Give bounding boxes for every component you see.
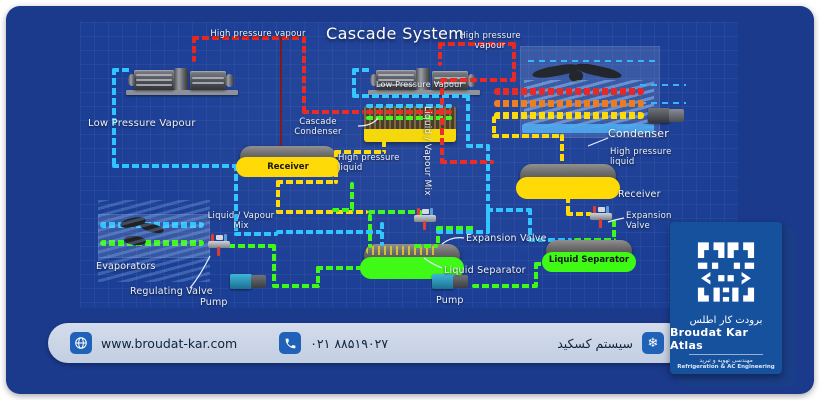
website-text: www.broudat-kar.com	[101, 336, 237, 351]
pump-left	[230, 274, 268, 291]
compressor-cylinder-left	[174, 68, 188, 90]
condenser-coil-mid	[494, 100, 644, 107]
logo-divider	[689, 354, 763, 355]
snowflake-logo-icon	[687, 233, 765, 311]
receiver-left-label: Receiver	[240, 158, 336, 176]
condenser-water-pump	[648, 108, 682, 124]
snowflake-icon: ❄	[642, 332, 664, 354]
condenser-airflow-2	[640, 84, 686, 86]
expansion-valve-middle	[414, 208, 438, 228]
compressor-body-left	[134, 70, 174, 90]
phone-text: ۰۲۱ ۸۸۵۱۹۰۲۷	[310, 336, 388, 351]
condenser-airflow-1	[528, 60, 656, 62]
globe-icon	[70, 332, 92, 354]
expansion-valve-right	[590, 206, 614, 226]
logo-name-en: Broudat Kar Atlas	[670, 326, 782, 352]
footer-phone[interactable]: ۰۲۱ ۸۸۵۱۹۰۲۷	[279, 332, 388, 354]
liquid-separator-right-label: Liquid Separator	[546, 251, 632, 269]
label-cascade-condenser: Cascade Condenser	[278, 118, 358, 138]
motor-left	[190, 71, 226, 90]
poster-card: Receiver	[6, 6, 814, 394]
footer-contact-bar: www.broudat-kar.com ۰۲۱ ۸۸۵۱۹۰۲۷ سیستم ک…	[48, 323, 688, 363]
logo-tagline-fa: مهندسی تهویه و تبرید	[699, 357, 753, 364]
condenser-coil-cool	[494, 112, 644, 119]
footer-website[interactable]: www.broudat-kar.com	[70, 332, 237, 354]
label-high-pressure-liquid-left: High pressure liquid	[338, 154, 400, 174]
label-condenser-right: Condenser	[608, 128, 669, 141]
label-expansion-valve-right: Expansion Valve	[626, 212, 672, 232]
logo-name-fa: برودت کار اطلس	[690, 315, 763, 326]
logo-tagline-en: Refrigeration & AC Engineering	[677, 364, 774, 370]
label-high-pressure-liquid-right: High pressure liquid	[610, 148, 672, 168]
receiver-right	[520, 164, 616, 188]
label-liquid-vapour-mix-vertical: Liquid / Vapour Mix	[422, 106, 432, 196]
footer-subject: سیستم کسکید ❄	[557, 332, 664, 354]
phone-icon	[279, 332, 301, 354]
screenshot-root: Receiver	[0, 0, 820, 400]
label-expansion-valve-middle: Expansion Valve	[466, 234, 547, 245]
liquid-separator-right: Liquid Separator	[546, 240, 632, 262]
company-logo-panel[interactable]: برودت کار اطلس Broudat Kar Atlas مهندسی …	[670, 222, 782, 374]
label-high-pressure-vapour-right: High pressure vapour	[448, 32, 532, 52]
label-evaporators: Evaporators	[96, 262, 156, 273]
subject-text: سیستم کسکید	[557, 336, 633, 351]
condenser-coil-hot	[494, 88, 644, 95]
regulating-valve	[208, 234, 232, 254]
condenser-airflow-3	[640, 102, 686, 104]
label-low-pressure-vapour-left: Low Pressure Vapour	[88, 118, 196, 130]
label-low-pressure-vapour-right: Low Pressure Vapour	[376, 80, 463, 89]
label-pump-right: Pump	[436, 296, 464, 307]
receiver-left: Receiver	[240, 146, 336, 168]
label-liquid-separator-middle: Liquid Separator	[444, 266, 526, 277]
label-liquid-vapour-mix-left: Liquid / Vapour Mix	[198, 212, 284, 232]
diagram-title: Cascade System	[326, 24, 464, 43]
label-receiver-right: Receiver	[618, 190, 661, 201]
compressor-unit-left	[126, 60, 242, 96]
label-high-pressure-vapour-left: High pressure vapour	[188, 30, 328, 40]
cascade-system-diagram: Receiver	[80, 22, 738, 308]
label-pump-left: Pump	[200, 298, 228, 308]
